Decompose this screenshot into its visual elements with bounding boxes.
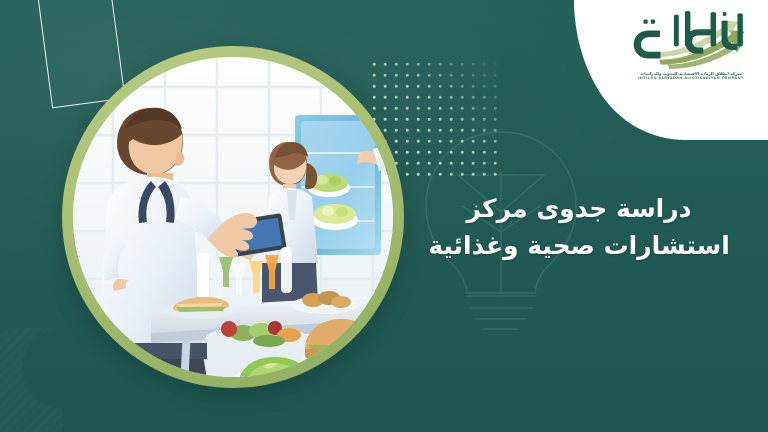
headline-line-2: استشارات صحية وغذائية (414, 227, 744, 264)
logo-wordmark-icon (630, 8, 752, 70)
hero-photo-ring (62, 46, 404, 388)
slide-headline: دراسة جدوى مركز استشارات صحية وغذائية (414, 190, 744, 264)
hero-photo (73, 57, 393, 377)
headline-line-1: دراسة جدوى مركز (414, 190, 744, 227)
logo-subtitle-english: INTILAQ ALRYADAH ALIQTISADIYAH COMPANY (626, 76, 756, 81)
company-logo[interactable]: شركة انطلاق الريادة الاقتصادية للبحوث وا… (626, 8, 756, 81)
tilted-rectangle-outline (36, 0, 125, 108)
presentation-slide: شركة انطلاق الريادة الاقتصادية للبحوث وا… (0, 0, 768, 432)
